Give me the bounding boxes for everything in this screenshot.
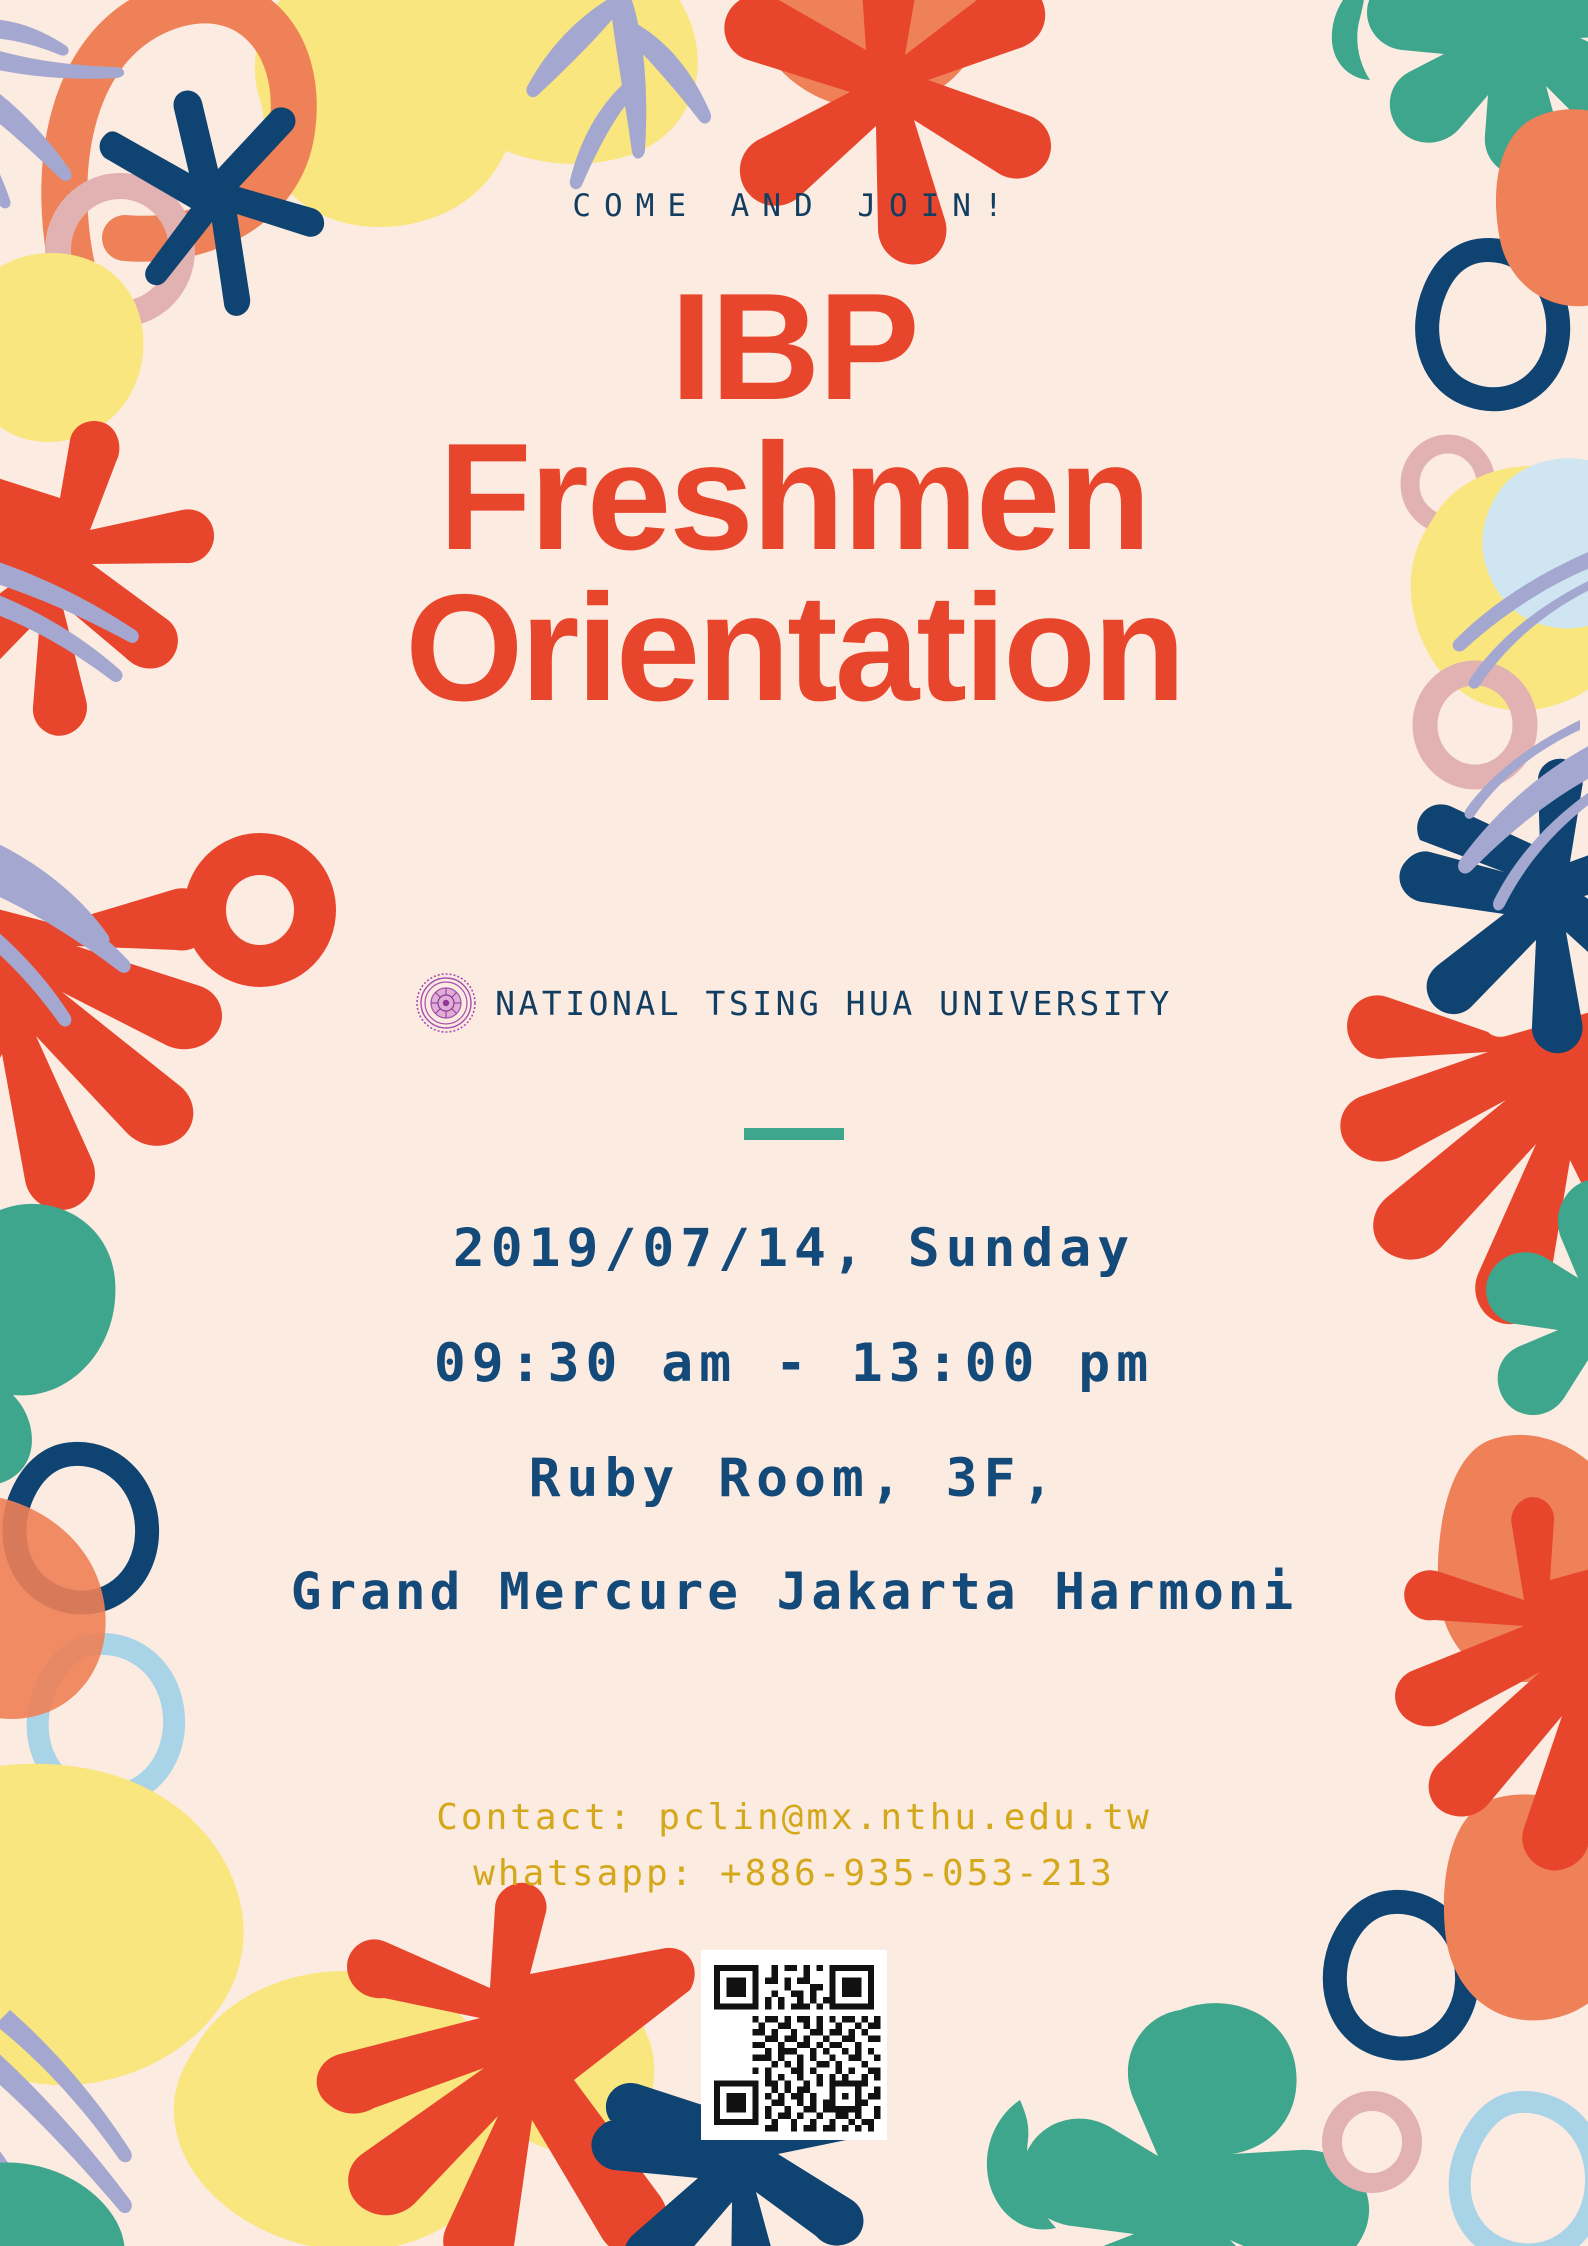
page-title: IBP Freshmen Orientation [0,272,1588,723]
title-line-1: IBP [0,272,1588,422]
organization-name: NATIONAL TSING HUA UNIVERSITY [495,984,1173,1023]
event-venue-line-1: Ruby Room, 3F, [0,1452,1588,1505]
contact-block: Contact: pclin@mx.nthu.edu.tw whatsapp: … [0,1790,1588,1902]
event-date: 2019/07/14, Sunday [0,1222,1588,1275]
title-line-3: Orientation [0,573,1588,723]
nthu-seal-icon [415,972,477,1034]
qr-code[interactable] [701,1950,887,2140]
contact-email[interactable]: Contact: pclin@mx.nthu.edu.tw [0,1790,1588,1846]
event-time: 09:30 am - 13:00 pm [0,1337,1588,1390]
title-line-2: Freshmen [0,422,1588,572]
organization-row: NATIONAL TSING HUA UNIVERSITY [0,972,1588,1034]
event-details: 2019/07/14, Sunday 09:30 am - 13:00 pm R… [0,1222,1588,1680]
poster-canvas: COME AND JOIN! IBP Freshmen Orientation [0,0,1588,2246]
kicker-text: COME AND JOIN! [0,188,1588,224]
section-divider [744,1128,844,1140]
event-venue-line-2: Grand Mercure Jakarta Harmoni [0,1567,1588,1618]
contact-whatsapp[interactable]: whatsapp: +886-935-053-213 [0,1846,1588,1902]
